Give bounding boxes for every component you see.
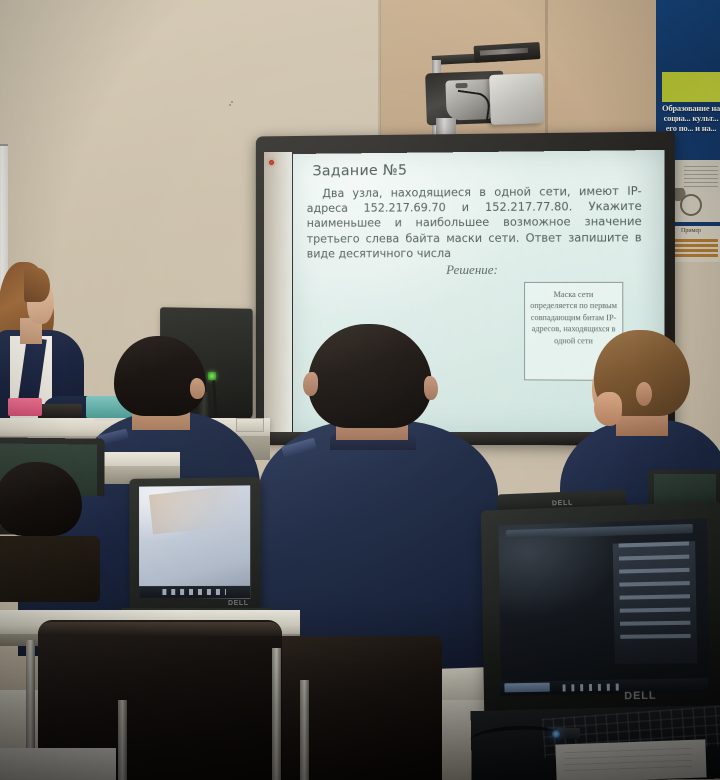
- student-right-hand: [594, 392, 622, 426]
- power-led-icon: [269, 160, 274, 165]
- chair-center-front[interactable]: [272, 636, 442, 780]
- projector-lens-panel: [489, 73, 545, 125]
- window-side-panel[interactable]: [613, 541, 698, 664]
- poster-header-band: [656, 0, 720, 72]
- laptop-front-right-screen[interactable]: [498, 518, 710, 694]
- student-center-ear-left: [303, 372, 318, 396]
- student-center-ear-right: [424, 376, 438, 400]
- poster-card-textlines: [684, 166, 718, 188]
- slide-body-text: Два узла, находящиеся в одной сети, имею…: [307, 184, 642, 262]
- chair-leg: [300, 680, 309, 780]
- projector-vent-slot: [455, 83, 467, 88]
- paper-sheet-front-left: [0, 748, 116, 780]
- slide-solution-label: Решение:: [446, 262, 498, 278]
- taskbar-tray-icons[interactable]: [563, 683, 622, 691]
- wall-speck: [229, 104, 231, 106]
- poster-title: Образование на социа... культ... его по.…: [660, 103, 720, 133]
- poster-accent-band: [662, 72, 720, 102]
- student-left-ear: [190, 378, 205, 399]
- brand-logo-dell: DELL: [228, 600, 250, 608]
- wall-power-socket[interactable]: [236, 418, 264, 432]
- chair-far-left[interactable]: [0, 536, 100, 602]
- classroom-photo: Образование на социа... культ... его по.…: [0, 0, 720, 780]
- paper-ruled-lines: [564, 748, 693, 776]
- whiteboard-left-margin: [264, 152, 292, 434]
- taskbar-icons[interactable]: [162, 589, 226, 595]
- brand-logo-dell: DELL: [624, 690, 656, 703]
- chair-front-left-top-rail: [38, 622, 282, 636]
- desk-dark-box: [38, 404, 82, 418]
- status-led-icon: [552, 730, 560, 738]
- teacher-hair-fringe: [24, 268, 50, 302]
- chair-leg: [272, 648, 281, 780]
- chair-leg: [118, 700, 127, 780]
- slide-title: Задание №5: [313, 163, 408, 180]
- desk-pink-box: [8, 398, 42, 416]
- power-led-icon: [208, 372, 216, 380]
- student-right-ear: [636, 382, 652, 406]
- wall-speck: [231, 101, 233, 103]
- taskbar-search-input[interactable]: [504, 683, 549, 693]
